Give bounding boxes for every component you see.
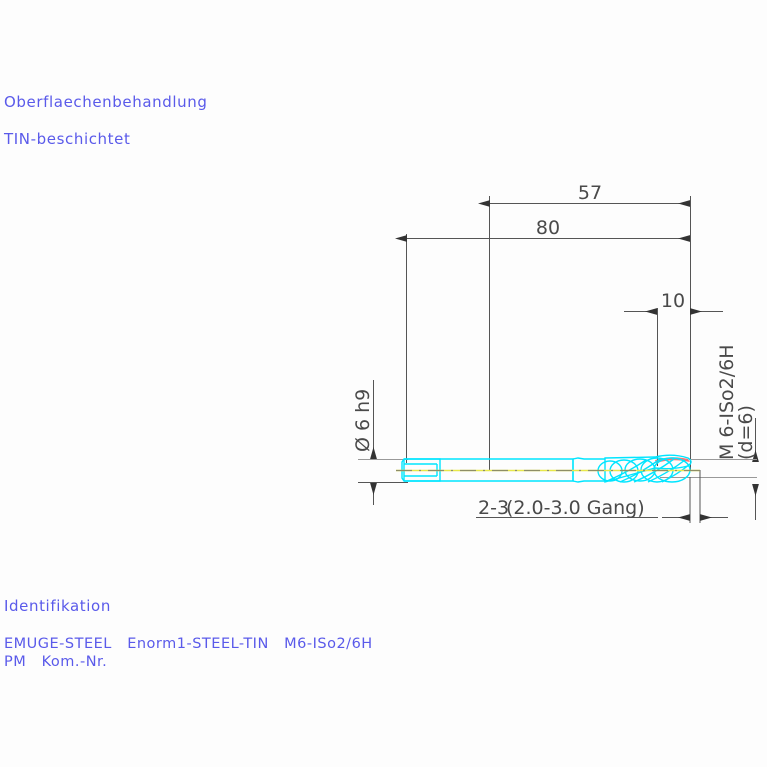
dimension-80: 80	[407, 217, 690, 239]
tap-tool-geometry	[396, 455, 700, 482]
dimension-tip-detail	[660, 470, 757, 523]
dimension-label-10: 10	[661, 290, 685, 312]
dimension-label-diameter: Ø 6 h9	[352, 389, 374, 452]
chamfer-note: 2-3 (2.0-3.0 Gang)	[476, 497, 658, 519]
dimension-label-80: 80	[536, 217, 560, 239]
dimension-diameter: Ø 6 h9	[352, 380, 408, 505]
dimension-10: 10	[624, 290, 723, 312]
tool-neck-top	[573, 458, 605, 459]
tool-outline	[402, 455, 691, 482]
dimension-label-57: 57	[578, 182, 602, 204]
tool-neck-bottom	[573, 481, 605, 482]
dimension-57: 57	[490, 182, 690, 204]
thread-spec-callout: M 6-ISo2/6H (d=6)	[716, 344, 757, 520]
drawing-canvas: Oberflaechenbehandlung TIN-beschichtet I…	[0, 0, 767, 767]
chamfer-note-label: 2-3	[478, 497, 509, 519]
technical-drawing-svg: 57 80 10 Ø 6 h9 M 6-ISo2/6H (	[0, 0, 767, 767]
thread-spec-label-sub: (d=6)	[735, 405, 757, 460]
chamfer-note-detail-label: (2.0-3.0 Gang)	[506, 497, 645, 519]
